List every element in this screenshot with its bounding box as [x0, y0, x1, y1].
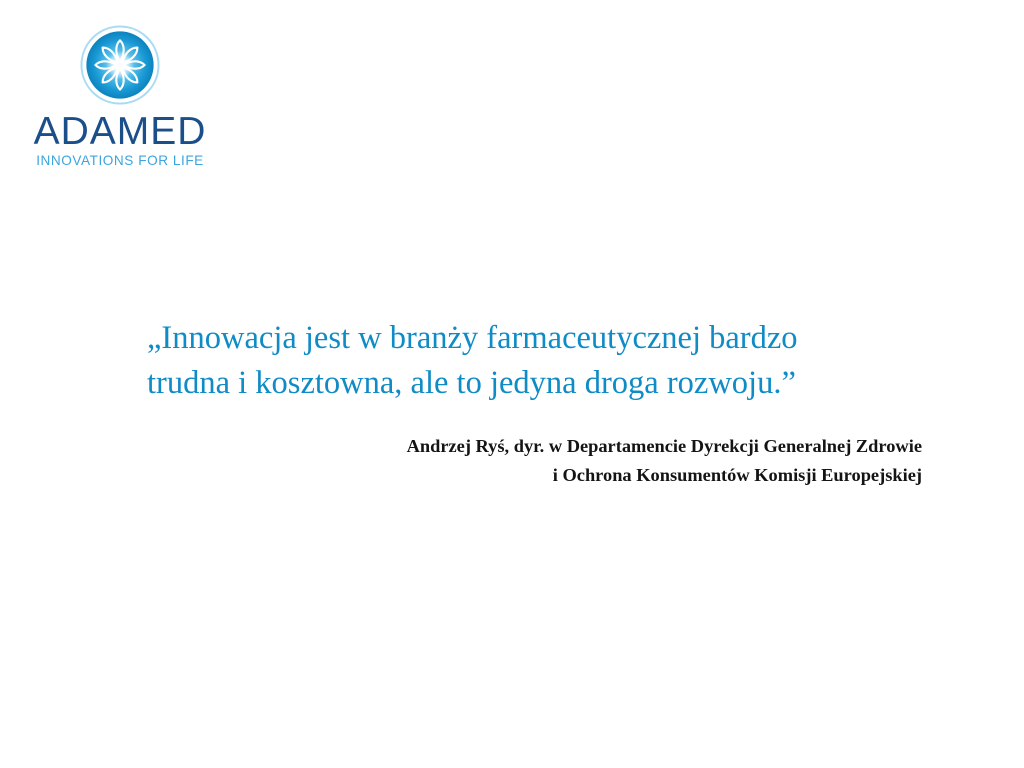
adamed-wordmark: ADAMED	[30, 112, 210, 151]
attribution-line-2: i Ochrona Konsumentów Komisji Europejski…	[200, 461, 922, 490]
adamed-logo: ADAMED INNOVATIONS FOR LIFE	[30, 24, 210, 168]
adamed-flower-burst-mark-icon	[79, 24, 161, 106]
pull-quote: „Innowacja jest w branży farmaceutycznej…	[147, 316, 937, 406]
adamed-tagline: INNOVATIONS FOR LIFE	[30, 154, 210, 168]
quote-line-2: trudna i kosztowna, ale to jedyna droga …	[147, 361, 937, 406]
quote-attribution: Andrzej Ryś, dyr. w Departamencie Dyrekc…	[200, 432, 922, 490]
quote-line-1: „Innowacja jest w branży farmaceutycznej…	[147, 316, 937, 361]
slide-canvas: ADAMED INNOVATIONS FOR LIFE „Innowacja j…	[0, 0, 1024, 768]
attribution-line-1: Andrzej Ryś, dyr. w Departamencie Dyrekc…	[200, 432, 922, 461]
